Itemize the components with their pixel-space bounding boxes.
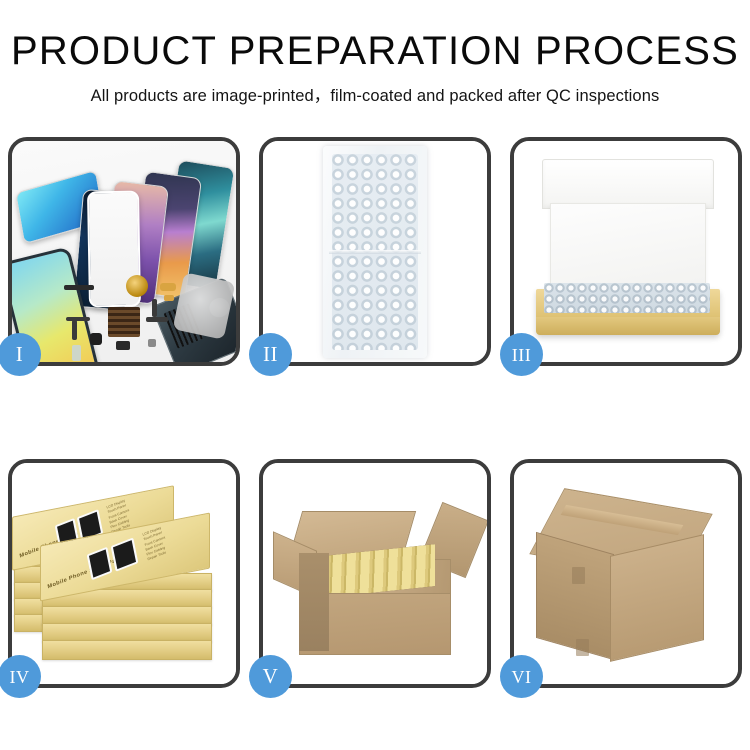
retail-box-phone-image-2	[111, 537, 139, 571]
part-copper-coil	[126, 275, 148, 297]
foam-padding-sheet	[550, 203, 706, 293]
step-6-image-sealed-carton	[514, 463, 738, 684]
part-flex-cable-4	[152, 299, 157, 317]
pouch-seam	[329, 250, 421, 254]
step-badge-1: I	[0, 333, 41, 376]
step-badge-2: II	[249, 333, 292, 376]
sealed-carton-left-face	[536, 532, 614, 660]
header: PRODUCT PREPARATION PROCESS All products…	[0, 0, 750, 106]
step-badge-6: VI	[500, 655, 543, 698]
part-gold-connector-1	[160, 283, 176, 291]
process-step-panel-1: I	[8, 137, 240, 366]
bubble-wrap-pouch	[323, 146, 427, 358]
part-button	[148, 339, 156, 347]
retail-box-edge	[42, 640, 212, 660]
bubble-wrapped-product-in-box	[544, 283, 710, 313]
part-flex-cable-2	[72, 320, 77, 340]
process-step-panel-4: Mobile Phone Spare Parts LCD Display Tou…	[8, 459, 240, 688]
part-gold-connector-2	[164, 295, 174, 301]
part-connector-grid	[108, 307, 140, 337]
part-earpiece-mesh	[64, 285, 94, 290]
part-flex-cable-3	[146, 317, 168, 322]
step-1-image-phones-and-parts	[12, 141, 236, 362]
step-badge-5: V	[249, 655, 292, 698]
box-lid-open	[542, 159, 714, 209]
part-flex-cable-1	[66, 317, 90, 321]
part-speaker	[116, 341, 130, 350]
carton-handle-tab-upper	[572, 567, 585, 584]
page-title: PRODUCT PREPARATION PROCESS	[0, 30, 750, 72]
step-badge-4: IV	[0, 655, 41, 698]
carton-side-face	[299, 553, 329, 651]
page-subtitle: All products are image-printed，film-coat…	[0, 82, 750, 106]
process-step-panel-5: V	[259, 459, 491, 688]
process-step-panel-2: II	[259, 137, 491, 366]
process-steps-grid: I II III	[8, 137, 742, 688]
step-2-image-bubble-pouch	[263, 141, 487, 362]
step-badge-3: III	[500, 333, 543, 376]
step-3-image-open-kraft-box	[514, 141, 738, 362]
process-step-panel-6: VI	[510, 459, 742, 688]
part-camera-module	[90, 333, 102, 345]
kraft-box-front-edge	[536, 317, 720, 335]
retail-box-phone-image-1	[87, 547, 113, 581]
step-5-image-open-shipping-carton	[263, 463, 487, 684]
product-preparation-infographic: PRODUCT PREPARATION PROCESS All products…	[0, 0, 750, 750]
part-sim-tray	[72, 345, 81, 361]
step-4-image-stacked-retail-boxes: Mobile Phone Spare Parts LCD Display Tou…	[12, 463, 236, 684]
carton-handle-tab-lower	[576, 639, 589, 656]
retail-box-checklist-2: LCD Display Touch Panel Front Camera Bac…	[142, 525, 169, 563]
process-step-panel-3: III	[510, 137, 742, 366]
retail-box-stack: Mobile Phone Spare Parts LCD Display Tou…	[12, 463, 236, 684]
spare-parts-group	[60, 273, 210, 362]
sealed-carton-right-face	[610, 534, 704, 662]
